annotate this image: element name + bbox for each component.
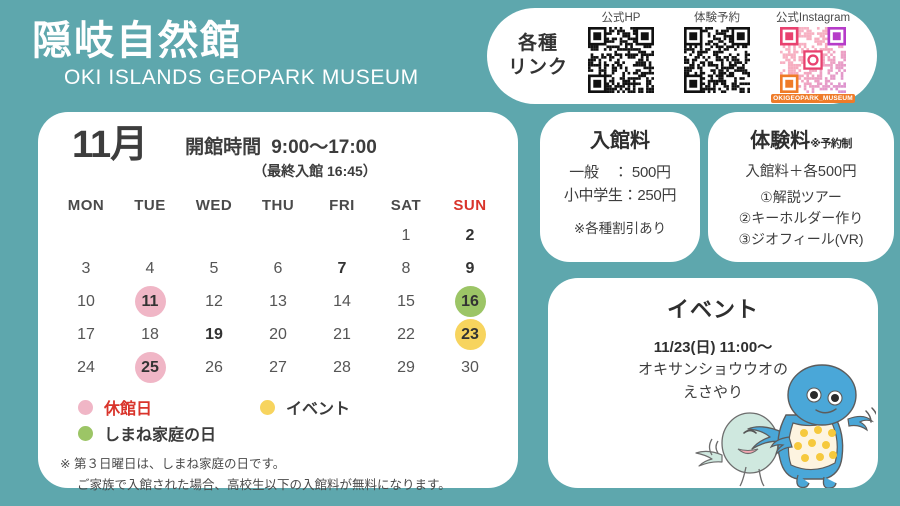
- weekday-thu: THU: [246, 193, 310, 219]
- links-card-title: 各種 リンク: [501, 32, 575, 80]
- event-date: 11/23(日) 11:00〜: [548, 336, 878, 357]
- calendar-cell-empty: [182, 219, 246, 252]
- qr-label: 体験予約: [675, 9, 759, 25]
- calendar-day-16[interactable]: 16: [438, 285, 502, 318]
- day-highlight-marker: 11: [135, 286, 166, 317]
- calendar-day-27[interactable]: 27: [246, 351, 310, 384]
- calendar-week-row: 12: [54, 219, 502, 252]
- calendar-day-15[interactable]: 15: [374, 285, 438, 318]
- calendar-note-1: ※ 第３日曜日は、しまね家庭の日です。: [60, 457, 285, 471]
- admission-rows: 一般 ： 500円 小中学生：250円: [540, 161, 700, 208]
- legend-line-2: しまね家庭の日: [78, 420, 518, 446]
- qr-code-icon[interactable]: [684, 27, 750, 93]
- admission-panel: 入館料 一般 ： 500円 小中学生：250円 ※各種割引あり: [540, 112, 700, 262]
- calendar-day-26[interactable]: 26: [182, 351, 246, 384]
- experience-title-text: 体験料: [750, 130, 810, 152]
- calendar-day-7[interactable]: 7: [310, 252, 374, 285]
- calendar-cell-empty: [246, 219, 310, 252]
- legend-line-1: 休館日 イベント: [78, 394, 518, 420]
- admission-row-student: 小中学生：250円: [540, 184, 700, 207]
- calendar-cell-empty: [310, 219, 374, 252]
- calendar-day-12[interactable]: 12: [182, 285, 246, 318]
- experience-items: ①解説ツアー ②キーホルダー作り ③ジオフィール(VR): [708, 187, 894, 250]
- legend-label-family-day: しまね家庭の日: [104, 421, 216, 445]
- legend-item-closed: 休館日: [78, 395, 152, 419]
- calendar-day-14[interactable]: 14: [310, 285, 374, 318]
- qr-code-icon[interactable]: [780, 27, 846, 93]
- qr-item-official-hp[interactable]: 公式HP: [579, 9, 663, 93]
- experience-item-2: ②キーホルダー作り: [708, 208, 894, 229]
- instagram-handle-tag: OKIGEOPARK_MUSEUM: [771, 94, 855, 103]
- weekday-sat: SAT: [374, 193, 438, 219]
- calendar-day-30[interactable]: 30: [438, 351, 502, 384]
- admission-discount-note: ※各種割引あり: [540, 217, 700, 237]
- links-title-line1: 各種: [501, 32, 575, 56]
- qr-item-instagram[interactable]: 公式Instagram OKIGEOPARK_MUSEUM: [771, 9, 855, 103]
- experience-item-1: ①解説ツアー: [708, 187, 894, 208]
- qr-canvas: [588, 27, 654, 93]
- legend-label-closed: 休館日: [104, 395, 152, 419]
- museum-title-jp: 隠岐自然館: [32, 20, 419, 62]
- calendar-legend: 休館日 イベント しまね家庭の日: [38, 394, 518, 446]
- calendar-day-11[interactable]: 11: [118, 285, 182, 318]
- opening-hours-row: 開館時間9:00〜17:00: [185, 132, 377, 159]
- calendar-grid: MONTUEWEDTHUFRISATSUN 123456789101112131…: [38, 193, 518, 384]
- calendar-cell-empty: [54, 219, 118, 252]
- museum-title-en: OKI ISLANDS GEOPARK MUSEUM: [64, 66, 419, 90]
- legend-item-family-day: しまね家庭の日: [78, 421, 216, 445]
- experience-panel: 体験料※予約制 入館料＋各500円 ①解説ツアー ②キーホルダー作り ③ジオフィ…: [708, 112, 894, 262]
- legend-dot-yellow: [260, 400, 275, 415]
- legend-item-event: イベント: [260, 395, 350, 419]
- calendar-day-8[interactable]: 8: [374, 252, 438, 285]
- legend-dot-pink: [78, 400, 93, 415]
- calendar-day-9[interactable]: 9: [438, 252, 502, 285]
- calendar-day-22[interactable]: 22: [374, 318, 438, 351]
- calendar-day-4[interactable]: 4: [118, 252, 182, 285]
- opening-hours-value: 9:00〜17:00: [271, 137, 377, 158]
- brand-block: 隠岐自然館 OKI ISLANDS GEOPARK MUSEUM: [32, 20, 419, 90]
- calendar-day-10[interactable]: 10: [54, 285, 118, 318]
- weekday-fri: FRI: [310, 193, 374, 219]
- calendar-month: 11月: [72, 126, 147, 164]
- calendar-day-2[interactable]: 2: [438, 219, 502, 252]
- calendar-day-24[interactable]: 24: [54, 351, 118, 384]
- salamander-mascots-illustration: [626, 363, 876, 488]
- qr-label: 公式HP: [579, 9, 663, 25]
- legend-dot-green: [78, 426, 93, 441]
- calendar-notes: ※ 第３日曜日は、しまね家庭の日です。 ご家族で入館された場合、高校生以下の入館…: [38, 446, 518, 495]
- calendar-day-13[interactable]: 13: [246, 285, 310, 318]
- calendar-panel: 11月 開館時間9:00〜17:00 （最終入館 16:45） MONTUEWE…: [38, 112, 518, 488]
- calendar-day-5[interactable]: 5: [182, 252, 246, 285]
- calendar-day-23[interactable]: 23: [438, 318, 502, 351]
- opening-hours-label: 開館時間: [185, 137, 261, 158]
- weekday-tue: TUE: [118, 193, 182, 219]
- experience-reservation-note: ※予約制: [810, 138, 852, 150]
- last-admission-note: （最終入館 16:45）: [185, 161, 377, 181]
- weekday-wed: WED: [182, 193, 246, 219]
- calendar-day-21[interactable]: 21: [310, 318, 374, 351]
- calendar-note-2: ご家族で入館された場合、高校生以下の入館料が無料になります。: [60, 475, 518, 496]
- calendar-day-3[interactable]: 3: [54, 252, 118, 285]
- experience-title: 体験料※予約制: [708, 112, 894, 153]
- qr-code-icon[interactable]: [588, 27, 654, 93]
- calendar-day-20[interactable]: 20: [246, 318, 310, 351]
- opening-hours-block: 開館時間9:00〜17:00 （最終入館 16:45）: [185, 132, 377, 181]
- qr-canvas: [780, 27, 846, 93]
- event-panel: イベント 11/23(日) 11:00〜 オキサンショウウオの えさやり: [548, 278, 878, 488]
- qr-item-experience-booking[interactable]: 体験予約: [675, 9, 759, 93]
- qr-label: 公式Instagram: [771, 9, 855, 25]
- calendar-day-18[interactable]: 18: [118, 318, 182, 351]
- calendar-week-row: 24252627282930: [54, 351, 502, 384]
- calendar-day-28[interactable]: 28: [310, 351, 374, 384]
- experience-price: 入館料＋各500円: [708, 160, 894, 181]
- calendar-day-29[interactable]: 29: [374, 351, 438, 384]
- calendar-week-row: 10111213141516: [54, 285, 502, 318]
- weekday-sun: SUN: [438, 193, 502, 219]
- admission-row-general: 一般 ： 500円: [540, 161, 700, 184]
- event-title: イベント: [548, 278, 878, 324]
- calendar-header: 11月 開館時間9:00〜17:00 （最終入館 16:45）: [38, 112, 518, 181]
- calendar-day-25[interactable]: 25: [118, 351, 182, 384]
- calendar-week-row: 17181920212223: [54, 318, 502, 351]
- legend-label-event: イベント: [286, 395, 350, 419]
- qr-list: 公式HP 体験予約 公式Instagram OKIGEOPARK_MUSEUM: [575, 9, 855, 103]
- calendar-day-1[interactable]: 1: [374, 219, 438, 252]
- day-highlight-marker: 25: [135, 352, 166, 383]
- calendar-cell-empty: [118, 219, 182, 252]
- calendar-day-6[interactable]: 6: [246, 252, 310, 285]
- calendar-day-19[interactable]: 19: [182, 318, 246, 351]
- links-card: 各種 リンク 公式HP 体験予約 公式Instagram O: [487, 8, 877, 104]
- calendar-week-row: 3456789: [54, 252, 502, 285]
- poster-root: 隠岐自然館 OKI ISLANDS GEOPARK MUSEUM 各種 リンク …: [0, 0, 900, 506]
- admission-title: 入館料: [540, 112, 700, 153]
- calendar-weeks: 1234567891011121314151617181920212223242…: [54, 219, 502, 384]
- calendar-day-17[interactable]: 17: [54, 318, 118, 351]
- day-highlight-marker: 23: [455, 319, 486, 350]
- experience-item-3: ③ジオフィール(VR): [708, 229, 894, 250]
- qr-canvas: [684, 27, 750, 93]
- weekday-header-row: MONTUEWEDTHUFRISATSUN: [54, 193, 502, 219]
- links-title-line2: リンク: [501, 56, 575, 80]
- day-highlight-marker: 16: [455, 286, 486, 317]
- weekday-mon: MON: [54, 193, 118, 219]
